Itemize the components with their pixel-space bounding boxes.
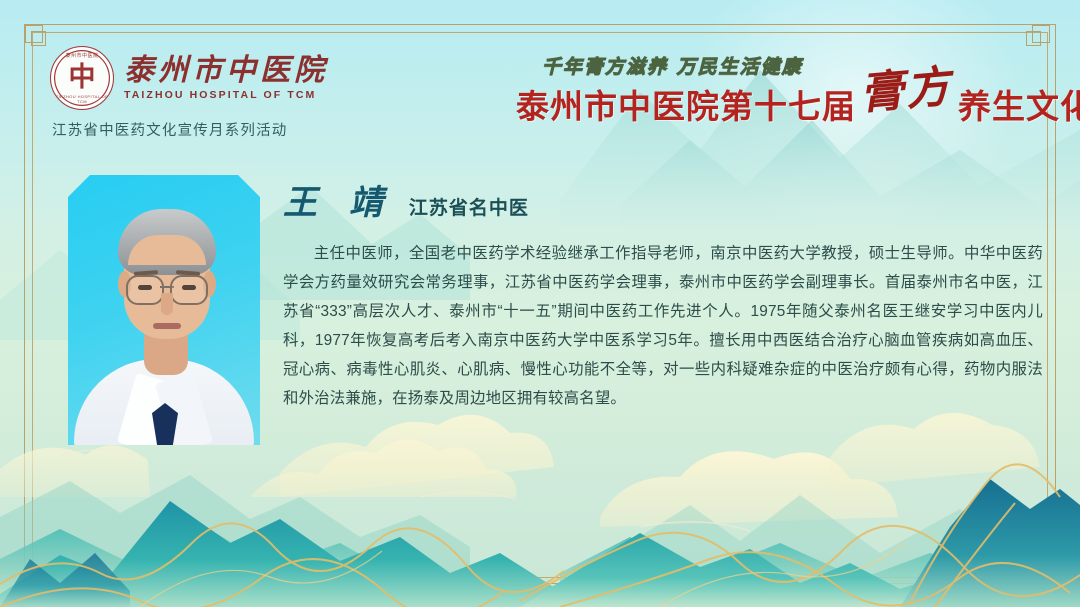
photo-mouth bbox=[153, 323, 181, 329]
foreground-mountains bbox=[0, 377, 1080, 607]
doctor-name: 王 靖 bbox=[283, 186, 393, 220]
doctor-name-row: 王 靖 江苏省名中医 bbox=[283, 186, 1045, 220]
hospital-seal-icon: 泰州市中医院 中 TAIZHOU HOSPITAL OF TCM bbox=[50, 46, 114, 110]
festival-tagline: 千年膏方滋养 万民生活健康 bbox=[542, 52, 803, 79]
poster-canvas: 泰州市中医院 中 TAIZHOU HOSPITAL OF TCM 泰州市中医院 … bbox=[0, 0, 1080, 607]
hospital-name-group: 泰州市中医院 TAIZHOU HOSPITAL OF TCM bbox=[124, 56, 328, 101]
seal-bottom-text: TAIZHOU HOSPITAL OF TCM bbox=[51, 94, 113, 104]
festival-title-part2-calligraphy: 膏方 bbox=[858, 65, 953, 117]
photo-nose bbox=[161, 293, 173, 315]
doctor-honorific: 江苏省名中医 bbox=[409, 199, 529, 218]
poster-header: 泰州市中医院 中 TAIZHOU HOSPITAL OF TCM 泰州市中医院 … bbox=[0, 0, 1080, 150]
photo-hair bbox=[118, 209, 216, 275]
hospital-name-en: TAIZHOU HOSPITAL OF TCM bbox=[124, 90, 328, 101]
hospital-logo-row: 泰州市中医院 中 TAIZHOU HOSPITAL OF TCM 泰州市中医院 … bbox=[50, 46, 328, 110]
festival-main-title: 泰州市中医院第十七届 膏方 养生文化节 bbox=[516, 79, 1080, 123]
hospital-name-cn: 泰州市中医院 bbox=[124, 56, 328, 86]
hospital-logo-block: 泰州市中医院 中 TAIZHOU HOSPITAL OF TCM 泰州市中医院 … bbox=[50, 46, 328, 140]
festival-title-part1: 泰州市中医院第十七届 bbox=[516, 90, 856, 123]
festival-title-block: 千年膏方滋养 万民生活健康 泰州市中医院第十七届 膏方 养生文化节 bbox=[516, 52, 1056, 138]
activity-subtitle: 江苏省中医药文化宣传月系列活动 bbox=[50, 119, 288, 140]
festival-title-part3: 养生文化节 bbox=[958, 90, 1080, 123]
